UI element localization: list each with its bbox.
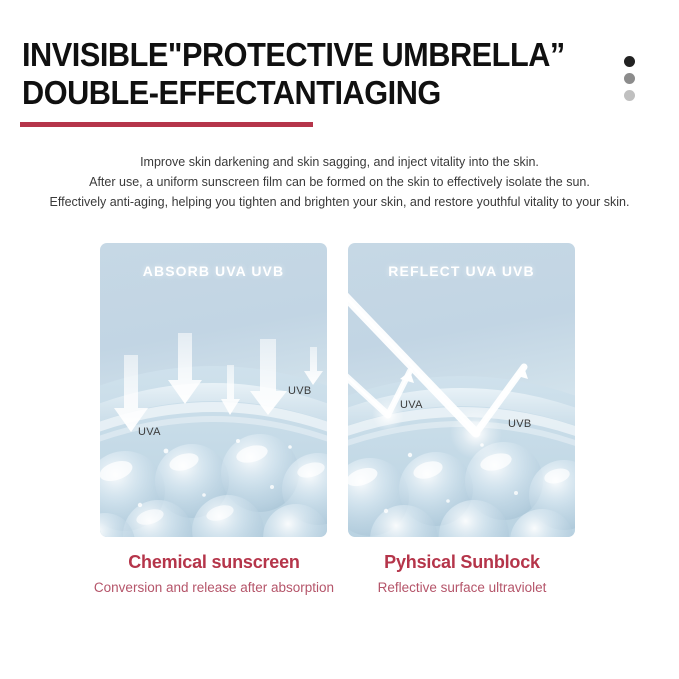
illustration-panels: ABSORB UVA UVB UVA UVB xyxy=(0,243,679,537)
header: INVISIBLE"PROTECTIVE UMBRELLA” DOUBLE-EF… xyxy=(0,0,679,140)
dot-dark-icon xyxy=(624,56,635,67)
caption-chemical: Chemical sunscreen Conversion and releas… xyxy=(89,550,339,600)
title-line-1: INVISIBLE"PROTECTIVE UMBRELLA” xyxy=(22,36,580,74)
captions-row: Chemical sunscreen Conversion and releas… xyxy=(0,550,679,670)
panel-absorb-label-uvb: UVB xyxy=(288,385,312,397)
panel-absorb-heading: ABSORB UVA UVB xyxy=(100,263,327,279)
description-line-3: Effectively anti-aging, helping you tigh… xyxy=(0,192,679,212)
description-line-2: After use, a uniform sunscreen film can … xyxy=(0,172,679,192)
reflect-illustration xyxy=(348,243,575,537)
caption-physical-title: Pyhsical Sunblock xyxy=(337,550,587,574)
panel-reflect: REFLECT UVA UVB UVA UVB xyxy=(348,243,575,537)
description-line-1: Improve skin darkening and skin sagging,… xyxy=(0,152,679,172)
title-line-2: DOUBLE-EFFECTANTIAGING xyxy=(22,74,580,112)
caption-chemical-title: Chemical sunscreen xyxy=(89,550,339,574)
dot-light-icon xyxy=(624,90,635,101)
page-title: INVISIBLE"PROTECTIVE UMBRELLA” DOUBLE-EF… xyxy=(22,36,622,112)
panel-reflect-heading: REFLECT UVA UVB xyxy=(348,263,575,279)
caption-chemical-subtitle: Conversion and release after absorption xyxy=(89,574,339,600)
caption-physical-subtitle: Reflective surface ultraviolet xyxy=(337,574,587,600)
caption-physical: Pyhsical Sunblock Reflective surface ult… xyxy=(337,550,587,600)
panel-absorb-label-uva: UVA xyxy=(138,426,161,438)
panel-absorb: ABSORB UVA UVB UVA UVB xyxy=(100,243,327,537)
panel-reflect-label-uva: UVA xyxy=(400,399,423,411)
dot-medium-icon xyxy=(624,73,635,84)
panel-reflect-label-uvb: UVB xyxy=(508,418,532,430)
decorative-dots xyxy=(624,56,640,107)
description-block: Improve skin darkening and skin sagging,… xyxy=(0,152,679,212)
accent-underline-bar xyxy=(20,122,313,127)
